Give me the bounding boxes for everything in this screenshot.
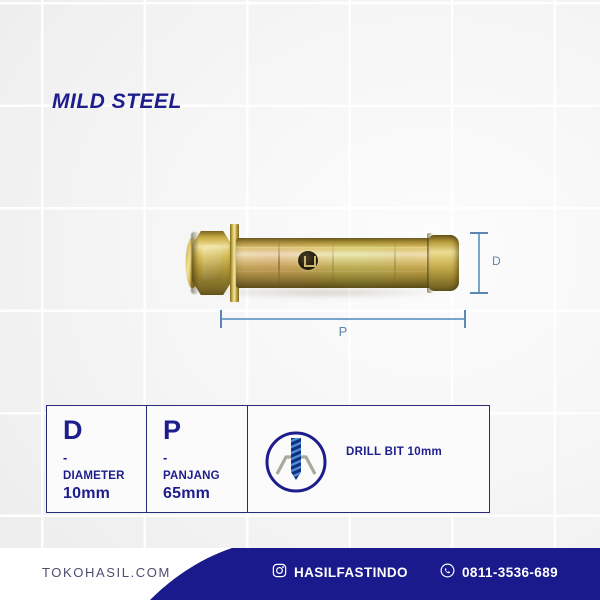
length-dimension-label: P [220, 324, 466, 339]
diameter-dimension-marker: D [470, 232, 504, 294]
length-dimension-marker: P [220, 310, 466, 340]
spec-table: D - DIAMETER 10mm P - PANJANG 65mm [46, 405, 490, 513]
footer-instagram-handle: HASILFASTINDO [294, 565, 408, 580]
spec-value: 10mm [63, 485, 146, 503]
product-image [178, 222, 468, 304]
spec-cell-length: P - PANJANG 65mm [147, 406, 248, 512]
sleeve-body-part [236, 238, 436, 288]
head-stamp-marking [298, 251, 318, 270]
drill-bit-icon [264, 430, 328, 499]
footer-bar: TOKOHASIL.COM HASILFASTINDO 0811-3536-68… [0, 548, 600, 600]
spec-dash: - [63, 451, 146, 464]
footer-website[interactable]: TOKOHASIL.COM [42, 565, 171, 580]
drill-bit-label: DRILL BIT 10mm [346, 446, 442, 458]
footer-whatsapp[interactable]: 0811-3536-689 [440, 563, 558, 581]
footer-whatsapp-number: 0811-3536-689 [462, 565, 558, 580]
spec-symbol: D [63, 417, 146, 444]
spec-dash: - [163, 451, 247, 464]
whatsapp-icon [440, 563, 455, 581]
diameter-dimension-label: D [492, 254, 501, 268]
spec-caption: PANJANG [163, 470, 247, 482]
spec-cell-diameter: D - DIAMETER 10mm [47, 406, 147, 512]
expansion-cone-part [429, 235, 459, 291]
footer-instagram[interactable]: HASILFASTINDO [272, 563, 408, 581]
instagram-icon [272, 563, 287, 581]
nut-shadow [191, 232, 199, 294]
spec-value: 65mm [163, 485, 247, 503]
spec-caption: DIAMETER [63, 470, 146, 482]
page-title: MILD STEEL [52, 90, 182, 114]
spec-cell-drill-bit: DRILL BIT 10mm [248, 406, 489, 512]
spec-symbol: P [163, 417, 247, 444]
sleeve-tint [236, 238, 436, 288]
